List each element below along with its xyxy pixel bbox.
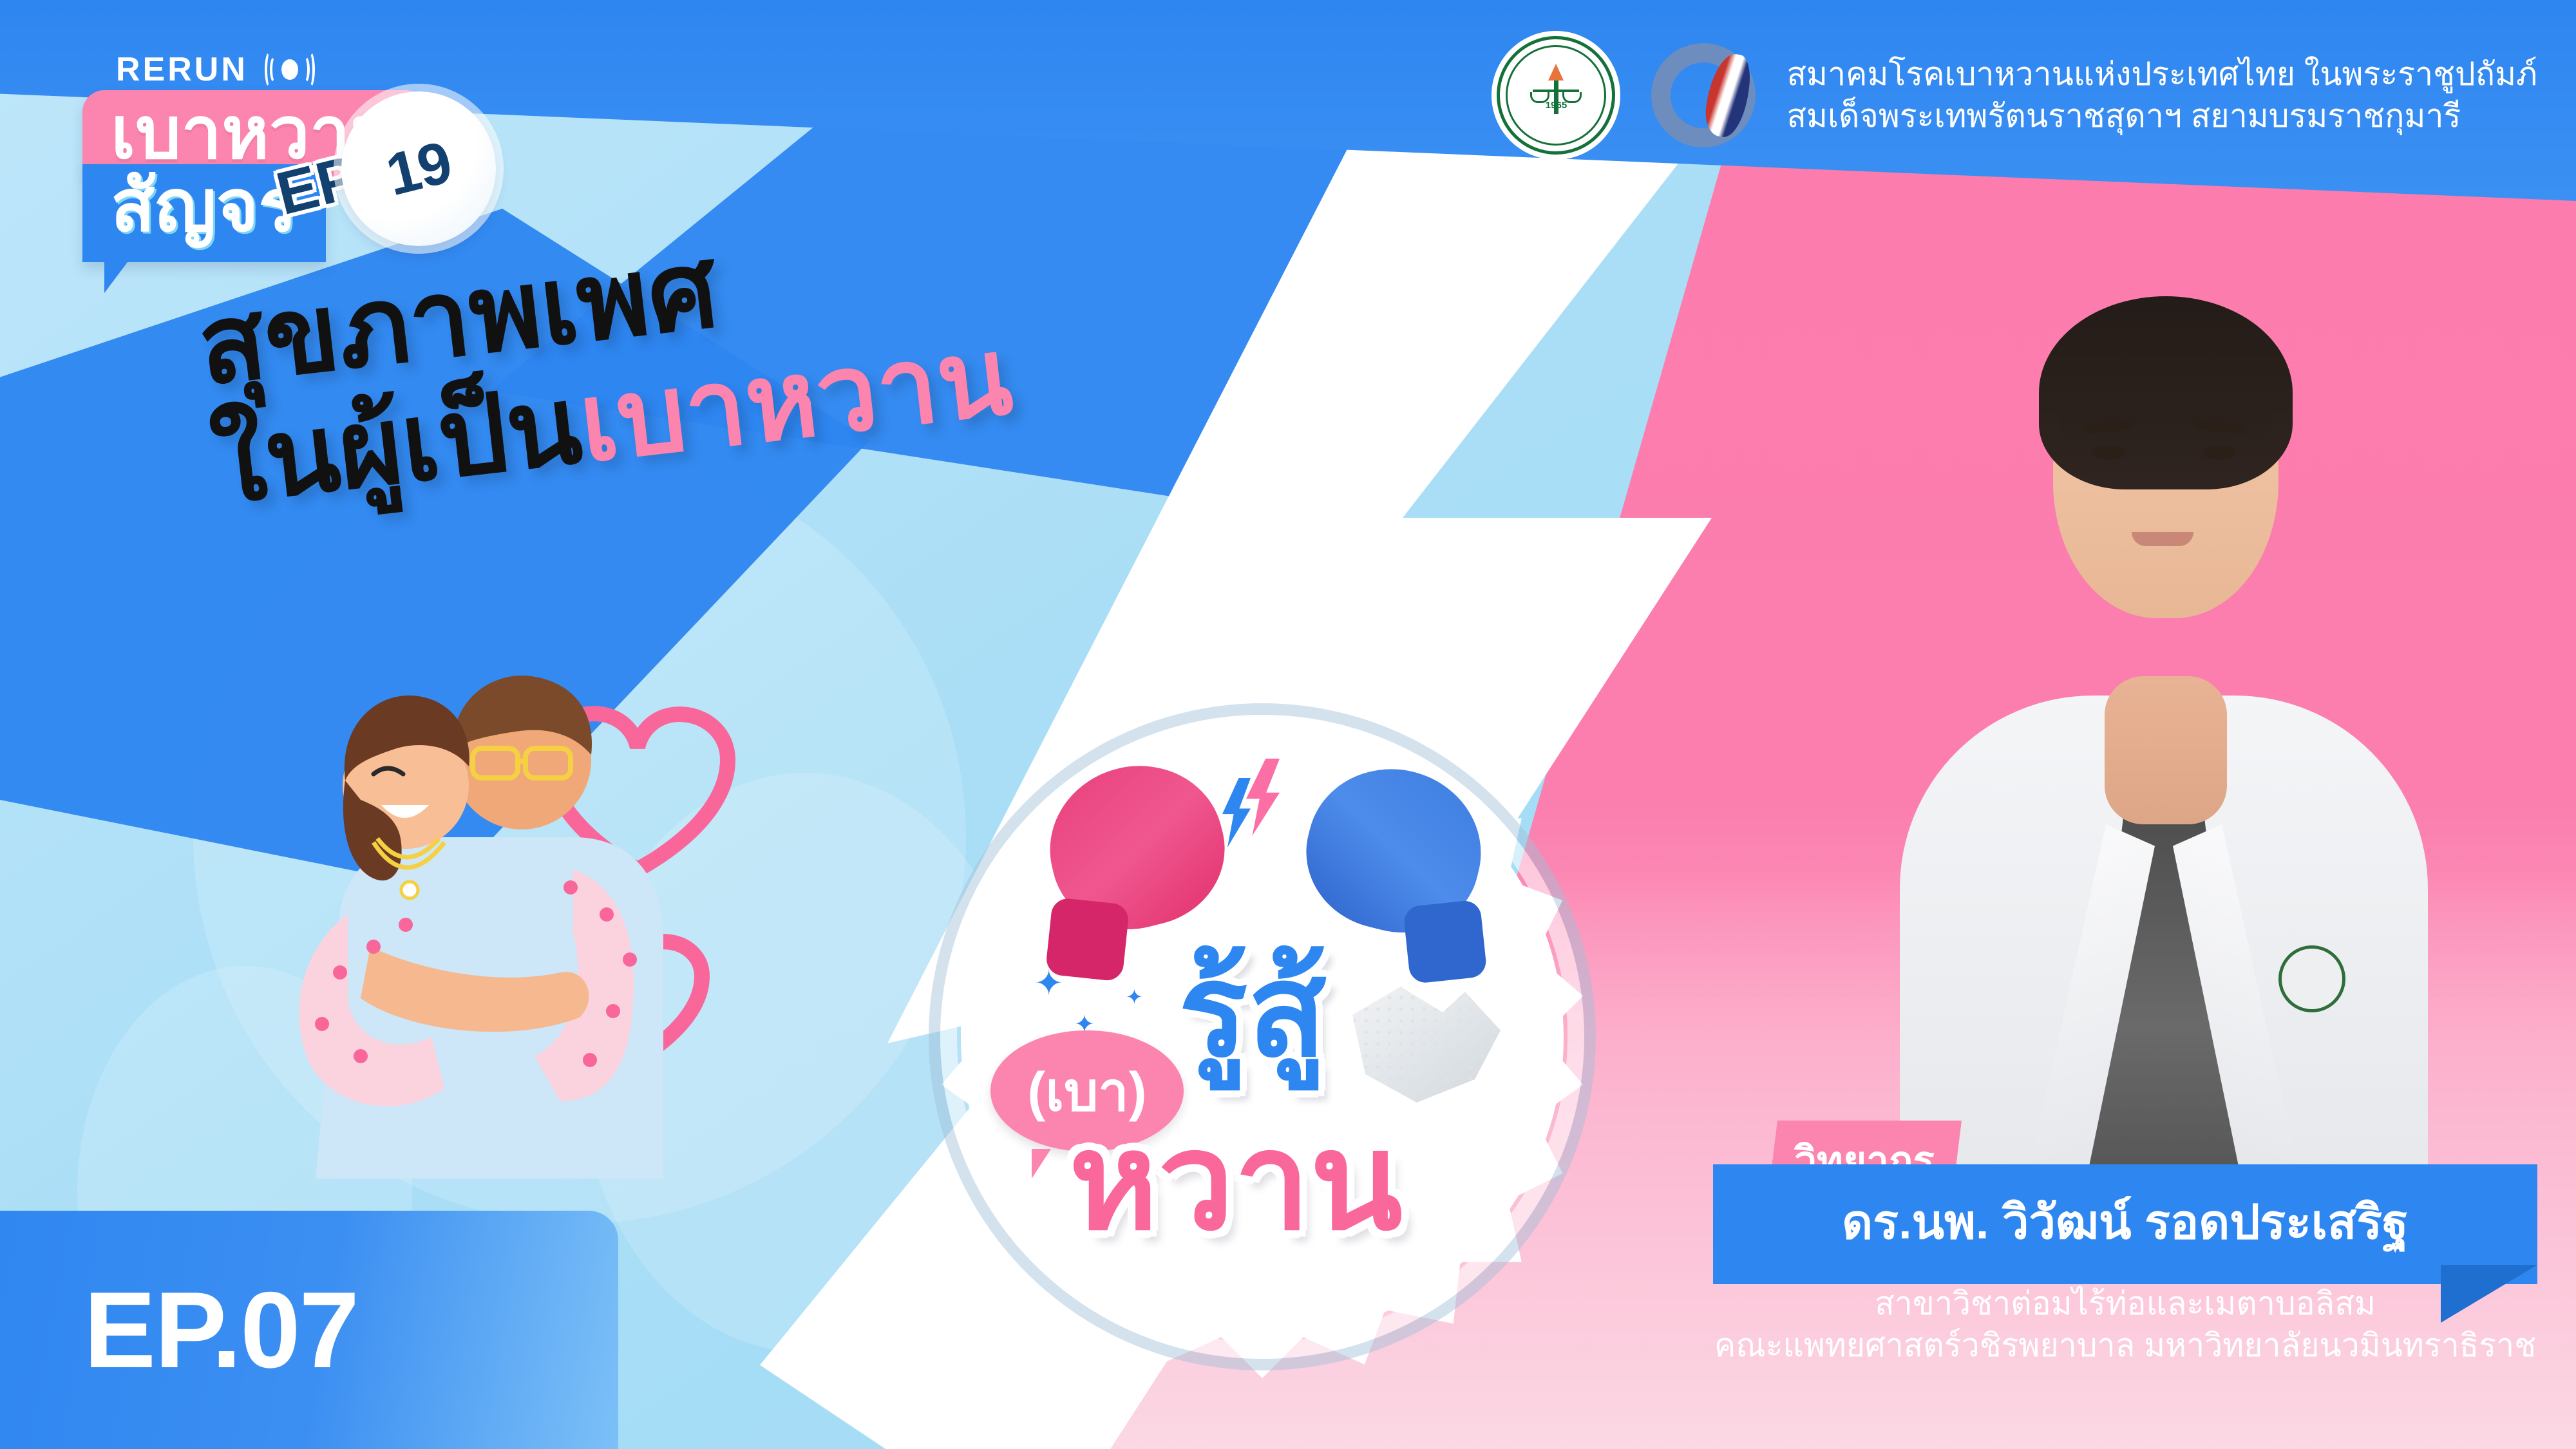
- rerun-label: RERUN: [116, 50, 248, 89]
- speaker-affiliation: สาขาวิชาต่อมไร้ท่อและเมตาบอลิสม คณะแพทยศ…: [1674, 1283, 2576, 1367]
- speaker-name: ดร.นพ. วิวัฒน์ รอดประเสริฐ: [1842, 1195, 2409, 1249]
- speaker-affiliation-line2: คณะแพทยศาสตร์วชิรพยาบาล มหาวิทยาลัยนวมิน…: [1674, 1325, 2576, 1367]
- poster-canvas: RERUN เบาหวาน สัญจร EP. 19 1965: [0, 0, 2576, 1449]
- episode-number-badge: 19: [341, 91, 496, 246]
- speaker-portrait-photo: [1900, 219, 2428, 1185]
- organization-name: สมาคมโรคเบาหวานแห่งประเทศไทย ในพระราชูปถ…: [1786, 53, 2537, 137]
- hospital-emblem-icon: [2278, 945, 2345, 1012]
- rerun-row: RERUN: [109, 50, 315, 89]
- couple-svg: [213, 612, 792, 1179]
- badge-word-pink: หวาน: [1069, 1114, 1403, 1249]
- organization-line1: สมาคมโรคเบาหวานแห่งประเทศไทย ในพระราชูปถ…: [1786, 53, 2537, 95]
- diabetes-association-seal-icon: 1965: [1492, 31, 1620, 160]
- episode-number-label: 19: [380, 128, 458, 209]
- speaker-affiliation-line1: สาขาวิชาต่อมไร้ท่อและเมตาบอลิสม: [1674, 1283, 2576, 1325]
- sparkle-icon: ✦: [1126, 987, 1143, 1007]
- speaker-name-bar: ดร.นพ. วิวัฒน์ รอดประเสริฐ: [1713, 1164, 2537, 1284]
- hugging-couple-illustration: [213, 612, 792, 1179]
- organization-header: 1965 สมาคมโรคเบาหวานแห่งประเทศไทย ในพระร…: [1492, 31, 2537, 160]
- thai-diabetes-ring-icon: [1642, 34, 1765, 156]
- sparkle-icon: ✦: [1034, 966, 1063, 1001]
- series-branding: RERUN: [109, 50, 315, 89]
- badge-word-blue: รู้สู้: [1179, 947, 1327, 1075]
- series-title-line2: สัญจร: [111, 166, 298, 246]
- seal-year-label: 1965: [1546, 100, 1567, 111]
- program-logo-badge: ✦ ✦ ✦ (เบา) รู้สู้ หวาน: [921, 696, 1604, 1378]
- episode-number-text: EP.07: [84, 1268, 358, 1392]
- broadcast-live-icon: [265, 50, 315, 89]
- organization-line2: สมเด็จพระเทพรัตนราชสุดาฯ สยามบรมราชกุมาร…: [1786, 95, 2537, 137]
- episode-number-panel: EP.07: [0, 1211, 618, 1449]
